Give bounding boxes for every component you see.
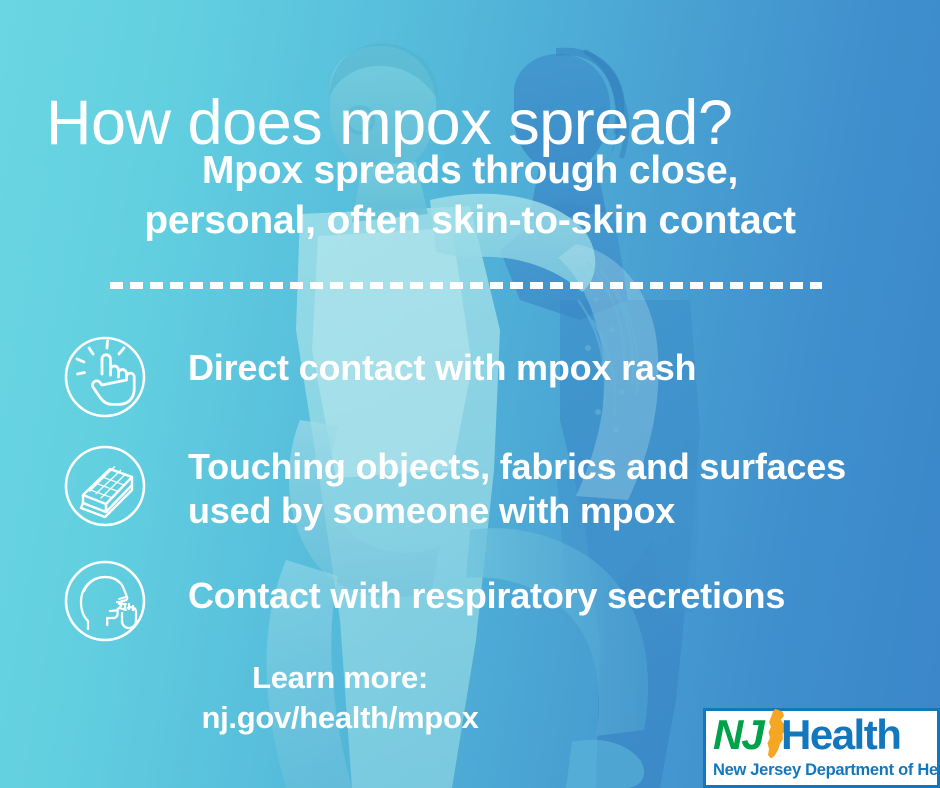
sneezing-head-icon	[62, 558, 148, 644]
list-item: Touching objects, fabrics and surfaces u…	[62, 443, 922, 533]
list-item-text: Direct contact with mpox rash	[188, 334, 696, 390]
learn-more-url[interactable]: nj.gov/health/mpox	[0, 698, 680, 738]
subtitle-line-2: personal, often skin-to-skin contact	[0, 196, 940, 246]
logo-health-text: Health	[781, 712, 900, 758]
bullet-1-line-1: Direct contact with mpox rash	[188, 346, 696, 390]
subtitle: Mpox spreads through close, personal, of…	[0, 146, 940, 246]
tapping-hand-icon	[62, 334, 148, 420]
mpox-spread-infographic: How does mpox spread? Mpox spreads throu…	[0, 0, 940, 788]
list-item: Contact with respiratory secretions	[62, 558, 922, 644]
learn-more-label: Learn more:	[0, 658, 680, 698]
nj-health-logo: NJ Health New Jersey Department of Healt…	[703, 708, 940, 788]
subtitle-line-1: Mpox spreads through close,	[0, 146, 940, 196]
dashed-divider	[110, 282, 822, 289]
logo-nj-text: NJ	[713, 712, 763, 758]
bullet-2-line-1: Touching objects, fabrics and surfaces	[188, 445, 846, 489]
list-item: Direct contact with mpox rash	[62, 334, 922, 420]
list-item-text: Touching objects, fabrics and surfaces u…	[188, 443, 846, 533]
logo-wordmark: NJ Health	[713, 714, 932, 760]
bullet-2-line-2: used by someone with mpox	[188, 489, 846, 533]
folded-fabric-icon	[62, 443, 148, 529]
list-item-text: Contact with respiratory secretions	[188, 558, 785, 618]
bullet-3-line-1: Contact with respiratory secretions	[188, 574, 785, 618]
logo-tagline: New Jersey Department of Health	[713, 761, 932, 780]
learn-more-block: Learn more: nj.gov/health/mpox	[0, 658, 680, 737]
